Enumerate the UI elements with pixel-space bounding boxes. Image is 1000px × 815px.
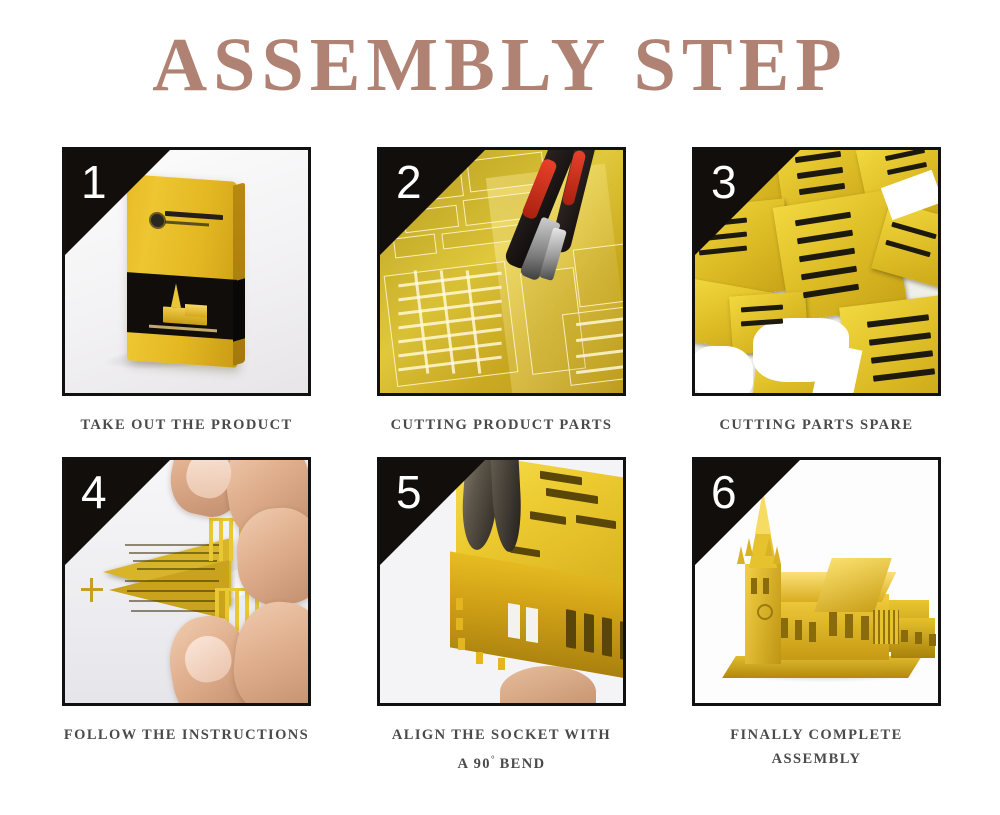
step-caption-6: FINALLY COMPLETE ASSEMBLY xyxy=(692,723,941,771)
box-artwork-cathedral xyxy=(157,282,213,328)
box-black-band-side xyxy=(233,278,245,341)
step-card-1: 1 TAKE OUT THE PRODUCT xyxy=(62,147,311,437)
step-caption-4: FOLLOW THE INSTRUCTIONS xyxy=(62,723,311,747)
step-card-6: 6 FINALLY COMPLETE ASSEMBLY xyxy=(692,457,941,776)
step-caption-5-line1: ALIGN THE SOCKET WITH xyxy=(392,727,611,743)
step-caption-3: CUTTING PARTS SPARE xyxy=(692,413,941,437)
step-card-3: 3 CUTTING PARTS SPARE xyxy=(692,147,941,437)
step-card-4: 4 FOLLOW THE INSTRUCTIONS xyxy=(62,457,311,776)
step-number-2: 2 xyxy=(396,158,422,206)
assembly-steps-poster: ASSEMBLY STEP xyxy=(0,0,1000,815)
step-caption-2: CUTTING PRODUCT PARTS xyxy=(377,413,626,437)
step-number-3: 3 xyxy=(711,158,737,206)
step-image-frame-3: 3 xyxy=(692,147,941,396)
step-card-2: 2 CUTTING PRODUCT PARTS xyxy=(377,147,626,437)
step-image-frame-6: 6 xyxy=(692,457,941,706)
step-caption-5-line2-post: BEND xyxy=(495,756,546,772)
supporting-finger xyxy=(500,666,596,703)
step-caption-1: TAKE OUT THE PRODUCT xyxy=(62,413,311,437)
step-caption-5: ALIGN THE SOCKET WITH A 90° BEND xyxy=(377,723,626,776)
step-image-frame-4: 4 xyxy=(62,457,311,706)
apse-window-grid xyxy=(873,610,899,644)
step-number-5: 5 xyxy=(396,468,422,516)
steps-grid: 1 TAKE OUT THE PRODUCT xyxy=(62,147,944,776)
step-image-frame-5: 5 xyxy=(377,457,626,706)
cross-finial-vertical xyxy=(90,578,93,602)
step-card-5: 5 ALIGN THE SOCKET WITH A 90° BEND xyxy=(377,457,626,776)
step-number-4: 4 xyxy=(81,468,107,516)
step-caption-5-line2-pre: A 90 xyxy=(458,756,491,772)
step-number-1: 1 xyxy=(81,158,107,206)
page-title: ASSEMBLY STEP xyxy=(0,22,1000,108)
step-image-frame-1: 1 xyxy=(62,147,311,396)
rose-window xyxy=(757,604,773,620)
step-number-6: 6 xyxy=(711,468,737,516)
step-image-frame-2: 2 xyxy=(377,147,626,396)
